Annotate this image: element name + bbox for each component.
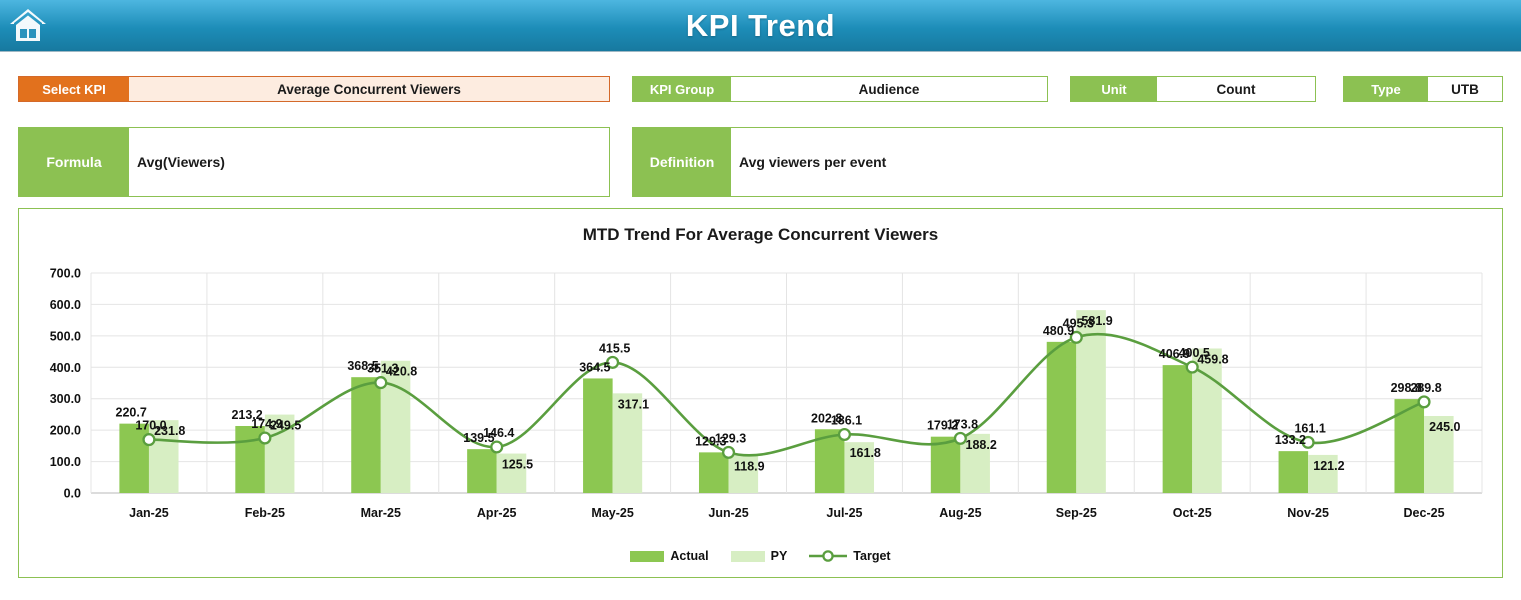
- x-axis-tick-label: Apr-25: [477, 506, 517, 520]
- legend-swatch-icon: [731, 551, 765, 562]
- x-axis-tick-label: Jan-25: [129, 506, 169, 520]
- y-axis-tick-label: 0.0: [64, 487, 81, 501]
- y-axis-tick-label: 600.0: [50, 298, 81, 312]
- target-marker[interactable]: [1419, 397, 1430, 408]
- x-axis-tick-label: Feb-25: [245, 506, 285, 520]
- label-py: 161.8: [850, 446, 881, 460]
- definition-label: Definition: [633, 128, 731, 196]
- label-py: 245.0: [1429, 420, 1460, 434]
- target-marker[interactable]: [955, 433, 966, 444]
- bar-actual[interactable]: [119, 424, 149, 493]
- legend-item[interactable]: Target: [809, 549, 890, 563]
- y-axis-tick-label: 200.0: [50, 424, 81, 438]
- x-axis-tick-label: Oct-25: [1173, 506, 1212, 520]
- label-target: 170.0: [135, 419, 166, 433]
- chart-panel: MTD Trend For Average Concurrent Viewers…: [18, 208, 1503, 578]
- bar-actual[interactable]: [351, 377, 381, 493]
- type-label: Type: [1344, 77, 1428, 101]
- label-py: 121.2: [1313, 459, 1344, 473]
- kpi-group-label: KPI Group: [633, 77, 731, 101]
- definition-value: Avg viewers per event: [731, 128, 1502, 196]
- target-marker[interactable]: [144, 434, 155, 445]
- kpi-group-value[interactable]: Audience: [731, 77, 1047, 101]
- label-py: 118.9: [734, 460, 765, 474]
- label-target: 146.4: [483, 426, 514, 440]
- label-target: 173.8: [947, 417, 978, 431]
- label-py: 317.1: [618, 397, 649, 411]
- bar-actual[interactable]: [699, 452, 729, 493]
- y-axis-tick-label: 100.0: [50, 455, 81, 469]
- y-axis-tick-label: 700.0: [50, 267, 81, 281]
- page-title: KPI Trend: [0, 0, 1521, 52]
- type-value[interactable]: UTB: [1428, 77, 1502, 101]
- unit-value[interactable]: Count: [1157, 77, 1315, 101]
- label-target: 186.1: [831, 414, 862, 428]
- target-marker[interactable]: [259, 433, 270, 444]
- x-axis-tick-label: Aug-25: [939, 506, 981, 520]
- x-axis-tick-label: Nov-25: [1287, 506, 1329, 520]
- kpi-group-field[interactable]: KPI Group Audience: [632, 76, 1048, 102]
- bar-actual[interactable]: [1279, 451, 1309, 493]
- bar-actual[interactable]: [1047, 342, 1077, 493]
- target-marker[interactable]: [375, 377, 386, 388]
- label-py: 125.5: [502, 458, 533, 472]
- select-kpi-value[interactable]: Average Concurrent Viewers: [129, 77, 609, 101]
- label-py: 188.2: [966, 438, 997, 452]
- x-axis-tick-label: Mar-25: [361, 506, 401, 520]
- title-bar: KPI Trend: [0, 0, 1521, 52]
- chart-legend: ActualPYTarget: [19, 549, 1502, 563]
- target-marker[interactable]: [839, 429, 850, 440]
- legend-label: Target: [853, 549, 890, 563]
- label-actual: 220.7: [116, 406, 147, 420]
- label-target: 415.5: [599, 341, 630, 355]
- bar-actual[interactable]: [1163, 365, 1193, 493]
- x-axis-tick-label: Dec-25: [1404, 506, 1445, 520]
- legend-line-marker-icon: [809, 549, 847, 563]
- legend-item[interactable]: Actual: [630, 549, 708, 563]
- x-axis-tick-label: May-25: [591, 506, 633, 520]
- target-marker[interactable]: [1187, 362, 1198, 373]
- bar-actual[interactable]: [583, 378, 613, 493]
- x-axis-tick-label: Sep-25: [1056, 506, 1097, 520]
- label-target: 495.3: [1063, 316, 1094, 330]
- legend-swatch-icon: [630, 551, 664, 562]
- legend-label: PY: [771, 549, 788, 563]
- label-actual: 364.5: [579, 360, 610, 374]
- formula-label: Formula: [19, 128, 129, 196]
- select-kpi-label: Select KPI: [19, 77, 129, 101]
- type-field[interactable]: Type UTB: [1343, 76, 1503, 102]
- definition-box: Definition Avg viewers per event: [632, 127, 1503, 197]
- label-target: 174.9: [251, 417, 282, 431]
- target-marker[interactable]: [723, 447, 734, 458]
- x-axis-tick-label: Jul-25: [826, 506, 862, 520]
- chart-plot-area: 0.0100.0200.0300.0400.0500.0600.0700.022…: [19, 249, 1504, 539]
- chart-svg: 0.0100.0200.0300.0400.0500.0600.0700.022…: [19, 249, 1504, 539]
- y-axis-tick-label: 500.0: [50, 329, 81, 343]
- unit-field[interactable]: Unit Count: [1070, 76, 1316, 102]
- label-target: 400.5: [1179, 346, 1210, 360]
- label-target: 351.3: [367, 362, 398, 376]
- unit-label: Unit: [1071, 77, 1157, 101]
- formula-value: Avg(Viewers): [129, 128, 609, 196]
- label-target: 161.1: [1294, 421, 1325, 435]
- label-target: 129.3: [715, 431, 746, 445]
- bar-actual[interactable]: [467, 449, 497, 493]
- x-axis-tick-label: Jun-25: [708, 506, 748, 520]
- label-target: 289.8: [1410, 381, 1441, 395]
- legend-label: Actual: [670, 549, 708, 563]
- kpi-trend-page: KPI Trend Select KPI Average Concurrent …: [0, 0, 1521, 600]
- y-axis-tick-label: 400.0: [50, 361, 81, 375]
- y-axis-tick-label: 300.0: [50, 392, 81, 406]
- select-kpi-field[interactable]: Select KPI Average Concurrent Viewers: [18, 76, 610, 102]
- legend-item[interactable]: PY: [731, 549, 788, 563]
- chart-title: MTD Trend For Average Concurrent Viewers: [19, 225, 1502, 245]
- formula-box: Formula Avg(Viewers): [18, 127, 610, 197]
